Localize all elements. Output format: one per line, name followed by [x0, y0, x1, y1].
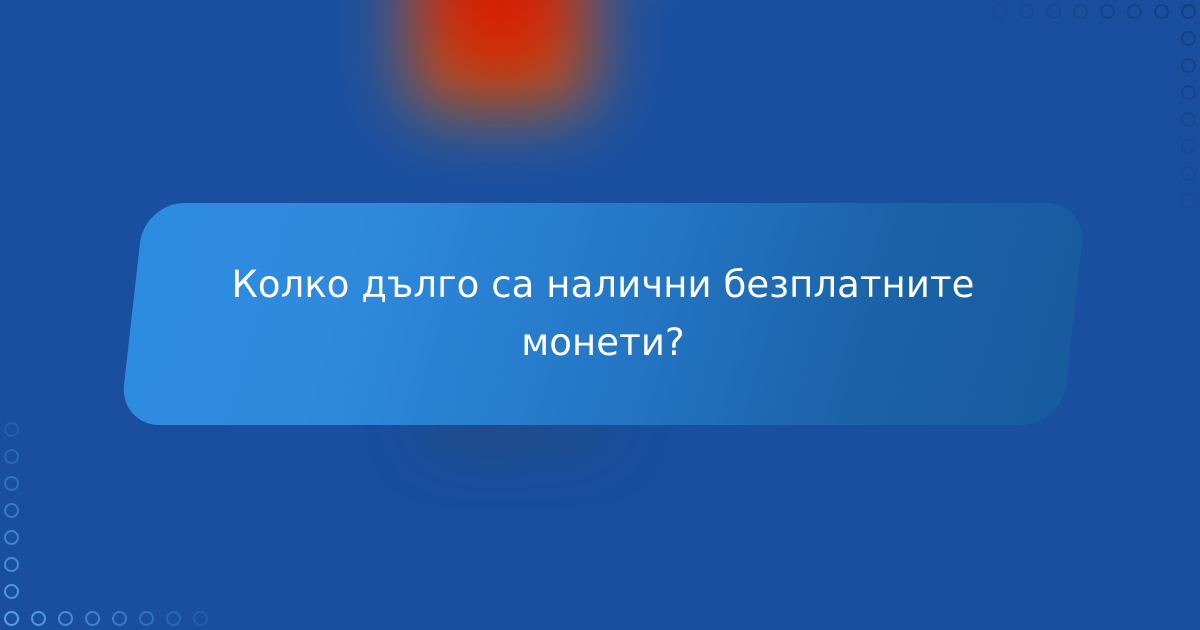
decorative-ring: [193, 611, 208, 626]
background-red-device-shape: [425, 0, 575, 95]
decorative-ring: [4, 476, 19, 491]
ring-decoration-top-right: [988, 0, 1200, 212]
decorative-ring: [31, 611, 46, 626]
decorative-ring: [1073, 4, 1088, 19]
decorative-ring: [1181, 112, 1196, 127]
decorative-ring: [992, 4, 1007, 19]
decorative-ring: [1154, 4, 1169, 19]
decorative-ring: [4, 611, 19, 626]
decorative-ring: [166, 611, 181, 626]
decorative-ring: [4, 557, 19, 572]
decorative-ring: [1181, 58, 1196, 73]
decorative-ring: [1181, 193, 1196, 208]
decorative-ring: [1019, 4, 1034, 19]
decorative-ring: [4, 584, 19, 599]
decorative-ring: [139, 611, 154, 626]
share-card-canvas: Колко дълго са налични безплатните монет…: [0, 0, 1200, 630]
decorative-ring: [112, 611, 127, 626]
question-card-text-area: Колко дълго са налични безплатните монет…: [132, 203, 1074, 425]
decorative-ring: [1181, 4, 1196, 19]
decorative-ring: [1181, 166, 1196, 181]
decorative-ring: [4, 422, 19, 437]
decorative-ring: [4, 530, 19, 545]
decorative-ring: [1046, 4, 1061, 19]
decorative-ring: [4, 503, 19, 518]
decorative-ring: [58, 611, 73, 626]
decorative-ring: [1100, 4, 1115, 19]
ring-decoration-bottom-left: [0, 418, 212, 630]
decorative-ring: [1181, 139, 1196, 154]
decorative-ring: [85, 611, 100, 626]
question-text: Колко дълго са налични безплатните монет…: [210, 256, 996, 372]
decorative-ring: [1127, 4, 1142, 19]
decorative-ring: [1181, 85, 1196, 100]
decorative-ring: [4, 449, 19, 464]
decorative-ring: [1181, 31, 1196, 46]
